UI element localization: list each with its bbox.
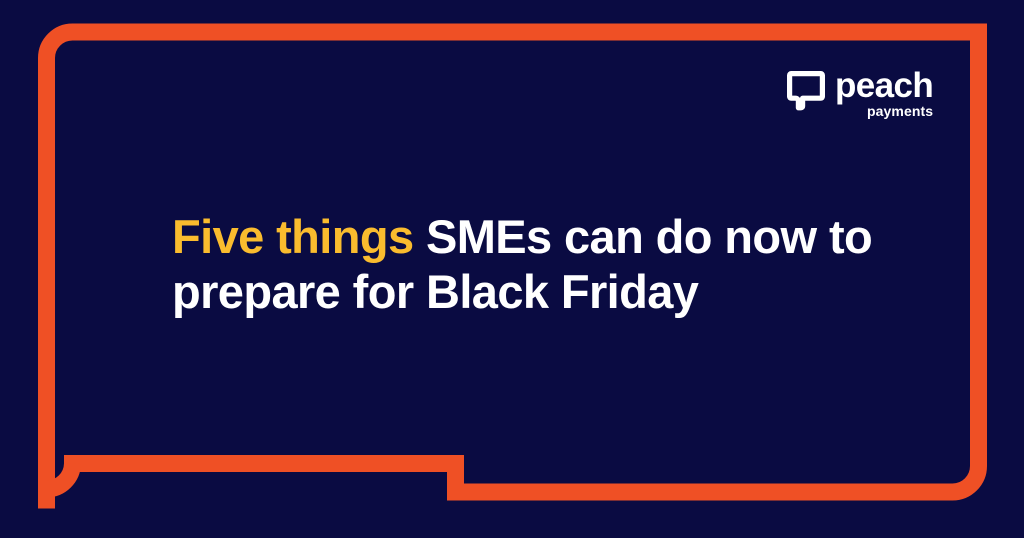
headline-highlight: Five things [172,210,413,263]
logo-word-payments: payments [867,104,933,118]
promo-banner: peach payments Five things SMEs can do n… [0,0,1024,538]
headline: Five things SMEs can do now to prepare f… [172,210,892,320]
logo-word-peach: peach [835,70,933,102]
peach-speech-bubble-mark-icon [787,71,825,115]
logo-wordmark: peach payments [835,70,933,118]
peach-payments-logo[interactable]: peach payments [787,70,933,118]
